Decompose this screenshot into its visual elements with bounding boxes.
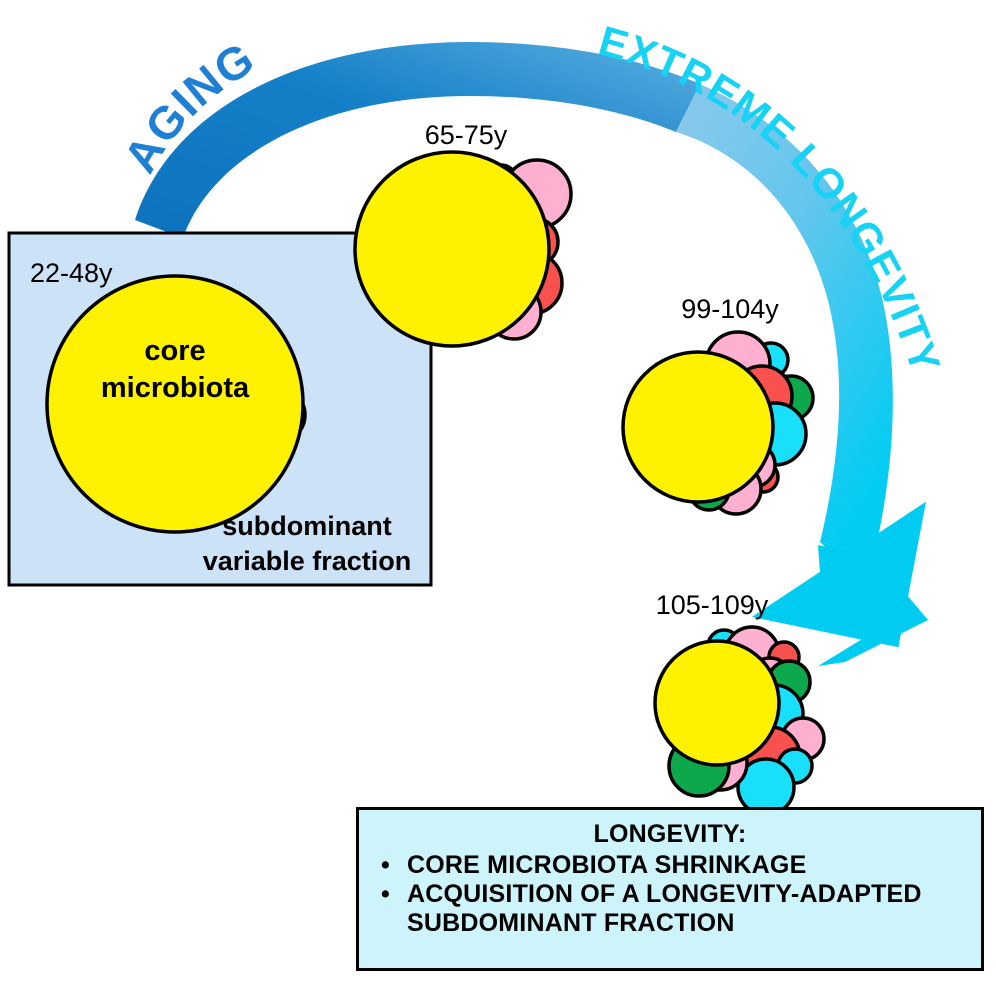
core-microbiota-circle <box>355 152 549 346</box>
legend-title: LONGEVITY: <box>367 820 973 849</box>
cluster-65-75y <box>355 152 571 346</box>
legend-item: • ACQUISITION OF A LONGEVITY-ADAPTED SUB… <box>367 880 973 938</box>
cluster-99-104y <box>623 332 813 514</box>
legend-item-text: CORE MICROBIOTA SHRINKAGE <box>407 851 806 879</box>
bullet-icon: • <box>381 851 390 880</box>
core-microbiota-label-line2: microbiota <box>101 372 250 404</box>
figure-canvas: AGING EXTREME LONGEVITY core microbiota <box>0 0 996 996</box>
legend-item-list: • CORE MICROBIOTA SHRINKAGE • ACQUISITIO… <box>367 851 973 937</box>
longevity-legend-box: LONGEVITY: • CORE MICROBIOTA SHRINKAGE •… <box>356 807 984 971</box>
panel-65-75y-age-label: 65-75y <box>425 120 508 150</box>
legend-item-text: ACQUISITION OF A LONGEVITY-ADAPTED SUBDO… <box>407 880 922 937</box>
panel-99-104y-age-label: 99-104y <box>681 294 779 324</box>
subdominant-label-line2: variable fraction <box>203 546 412 576</box>
cluster-105-109y <box>655 627 824 815</box>
core-microbiota-circle <box>655 641 779 765</box>
core-microbiota-circle <box>47 276 303 532</box>
subdominant-label-line1: subdominant <box>222 511 392 541</box>
panel-22-48y-age-label: 22-48y <box>30 258 113 288</box>
legend-item: • CORE MICROBIOTA SHRINKAGE <box>367 851 973 880</box>
core-microbiota-circle <box>623 352 773 502</box>
bullet-icon: • <box>381 880 390 909</box>
cluster-22-48y: core microbiota <box>47 276 305 532</box>
panel-105-109y-age-label: 105-109y <box>656 590 769 620</box>
core-microbiota-label-line1: core <box>144 335 205 367</box>
